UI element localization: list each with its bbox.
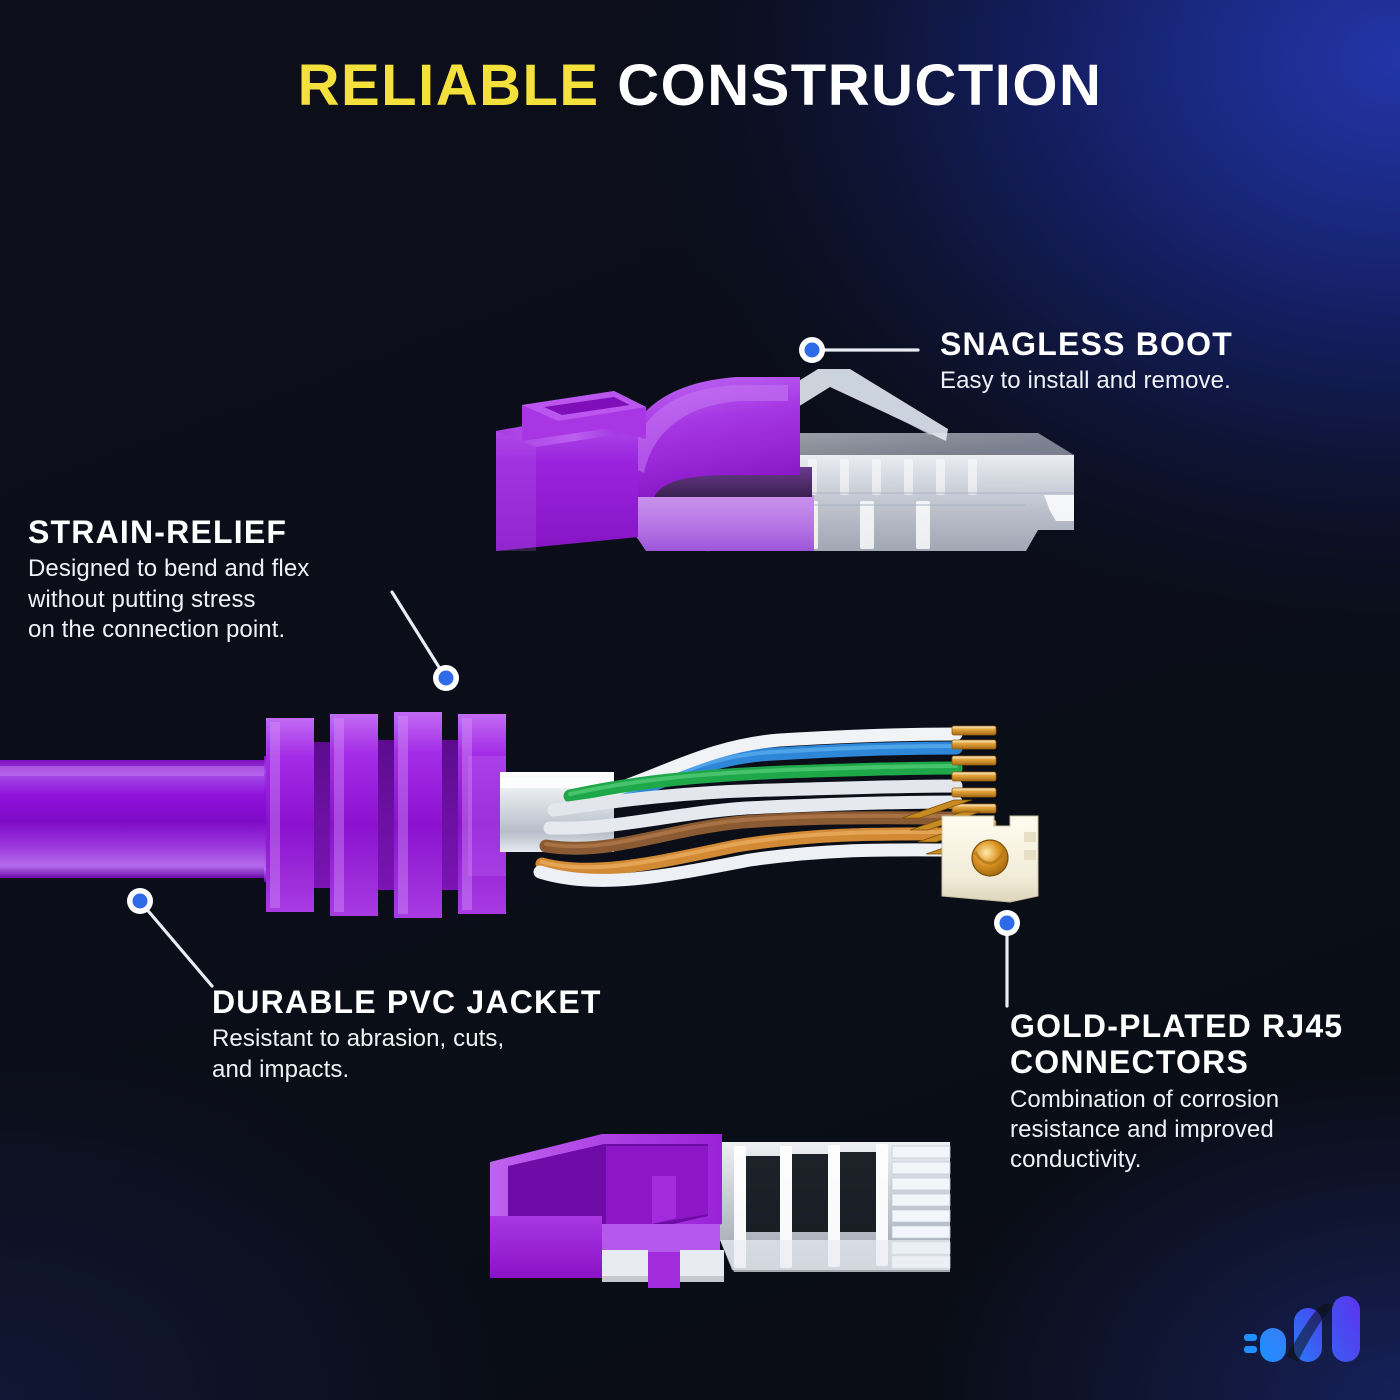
infographic-canvas: RELIABLE CONSTRUCTION: [0, 0, 1400, 1400]
callout-gold-rj45: GOLD-PLATED RJ45CONNECTORS Combination o…: [1010, 1008, 1390, 1176]
brand-logo: [1242, 1290, 1378, 1376]
callout-strain-title: STRAIN-RELIEF: [28, 514, 309, 550]
rj45-connector-top-view: [480, 1120, 980, 1295]
ethernet-cable-with-strain-relief: [0, 700, 1074, 930]
callout-dot-strain: [433, 665, 459, 691]
page-title: RELIABLE CONSTRUCTION: [0, 52, 1400, 119]
title-rest: CONSTRUCTION: [617, 53, 1102, 118]
callout-pvc-jacket: DURABLE PVC JACKET Resistant to abrasion…: [212, 984, 602, 1085]
callout-snagless-title: SNAGLESS BOOT: [940, 326, 1233, 362]
callout-jacket-body: Resistant to abrasion, cuts,and impacts.: [212, 1024, 602, 1084]
plug-prong-icon: [1244, 1334, 1257, 1341]
callout-strain-relief: STRAIN-RELIEF Designed to bend and flexw…: [28, 514, 309, 645]
callout-snagless-body: Easy to install and remove.: [940, 366, 1233, 396]
callout-jacket-title: DURABLE PVC JACKET: [212, 984, 602, 1020]
callout-snagless: SNAGLESS BOOT Easy to install and remove…: [940, 326, 1233, 397]
title-highlight: RELIABLE: [298, 53, 600, 118]
leader-line-strain: [392, 592, 442, 672]
callout-strain-body: Designed to bend and flexwithout putting…: [28, 554, 309, 645]
callout-gold-body: Combination of corrosionresistance and i…: [1010, 1085, 1390, 1176]
callout-gold-title: GOLD-PLATED RJ45CONNECTORS: [1010, 1008, 1390, 1081]
